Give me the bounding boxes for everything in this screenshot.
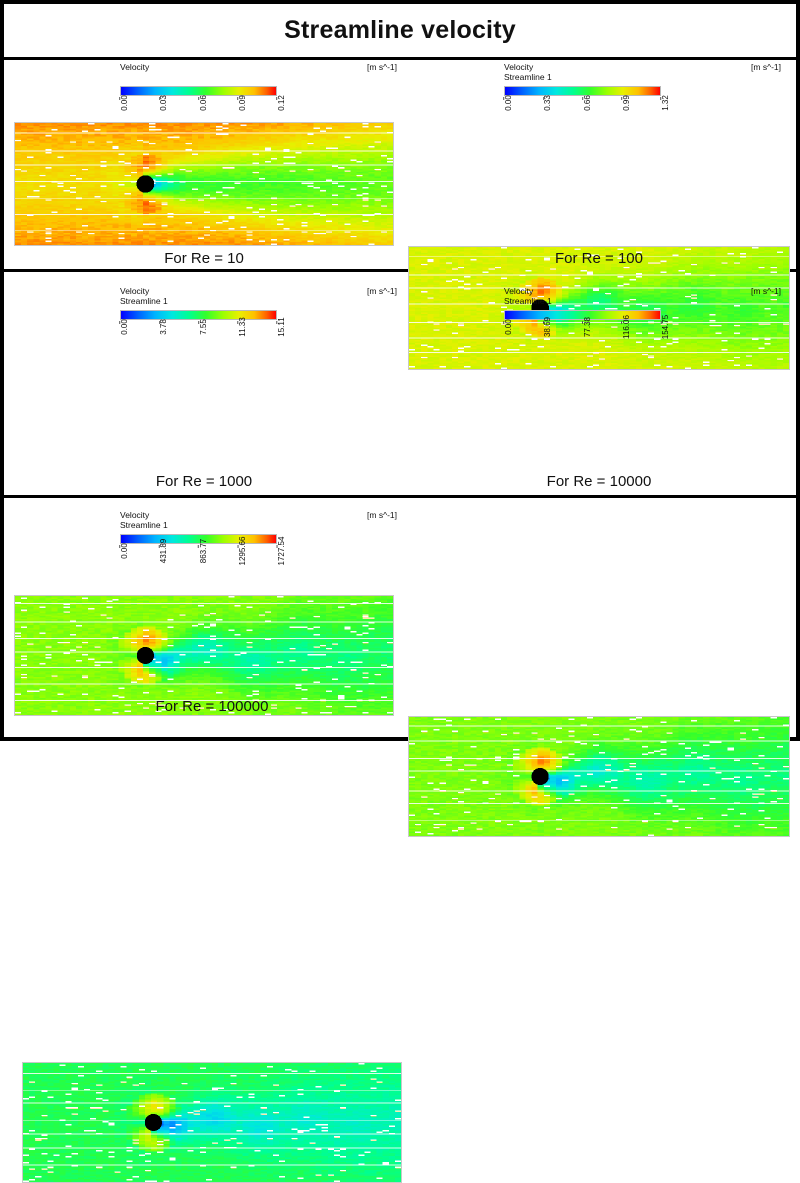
legend-tick: 0.99 (614, 97, 630, 112)
legend-title-line1: Velocity (504, 286, 533, 296)
legend-title-line1: Velocity (120, 286, 149, 296)
legend-tick-label: 0.00 (120, 95, 129, 111)
panel-caption-panel-re-10: For Re = 10 (14, 247, 394, 267)
legend-header: VelocityStreamline 1[m s^-1] (496, 286, 781, 310)
legend-tick: 11.33 (228, 321, 247, 336)
panel-caption-panel-re-10000: For Re = 10000 (408, 470, 790, 490)
legend-tick-label: 154.75 (661, 315, 670, 339)
flow-visualization-panel-re-100000 (22, 1062, 402, 1183)
legend-title-line1: Velocity (504, 62, 533, 72)
legend-tick: 0.03 (151, 97, 167, 112)
colorbar-ticks: 0.003.787.5511.3315.11 (120, 321, 277, 348)
legend-tick-label: 7.55 (199, 319, 208, 335)
legend-tick-label: 1727.54 (277, 537, 286, 566)
color-legend-panel-re-100000: VelocityStreamline 1[m s^-1]0.00431.8986… (112, 510, 397, 572)
legend-title: VelocityStreamline 1 (504, 62, 552, 82)
figure-root: Streamline velocity Velocity[m s^-1]0.00… (0, 0, 800, 741)
legend-tick-label: 1.32 (661, 95, 670, 111)
legend-tick: 1727.54 (263, 545, 292, 560)
legend-units: [m s^-1] (367, 62, 397, 72)
legend-title: Velocity (120, 62, 149, 72)
row-divider-3 (4, 495, 796, 498)
legend-block: VelocityStreamline 1[m s^-1]0.000.330.66… (496, 62, 781, 124)
legend-tick-label: 863.77 (199, 539, 208, 563)
row-divider-1 (4, 57, 796, 60)
legend-tick: 0.00 (112, 321, 128, 336)
colorbar-ticks: 0.000.330.660.991.32 (504, 97, 661, 124)
panels-container: Velocity[m s^-1]0.000.030.060.090.12For … (4, 4, 796, 615)
legend-tick: 3.78 (151, 321, 167, 336)
legend-title: VelocityStreamline 1 (120, 510, 168, 530)
legend-block: VelocityStreamline 1[m s^-1]0.00431.8986… (112, 510, 397, 572)
legend-tick-label: 38.69 (543, 317, 552, 337)
colorbar-ticks: 0.000.030.060.090.12 (120, 97, 277, 124)
legend-units: [m s^-1] (751, 62, 781, 72)
legend-tick: 863.77 (186, 545, 210, 560)
legend-tick-label: 77.38 (583, 317, 592, 337)
legend-tick-label: 0.00 (504, 95, 513, 111)
legend-block: Velocity[m s^-1]0.000.030.060.090.12 (112, 62, 397, 124)
legend-header: VelocityStreamline 1[m s^-1] (112, 510, 397, 534)
legend-title: VelocityStreamline 1 (504, 286, 552, 306)
colorbar-ticks: 0.00431.89863.771295.661727.54 (120, 545, 277, 572)
colorbar-ticks: 0.0038.6977.38116.06154.75 (504, 321, 661, 348)
caption-text: For Re = 1000 (14, 473, 394, 490)
legend-block: VelocityStreamline 1[m s^-1]0.003.787.55… (112, 286, 397, 348)
flow-visualization-panel-re-10000 (408, 716, 790, 837)
legend-tick-label: 15.11 (277, 317, 286, 336)
legend-tick-label: 0.66 (583, 95, 592, 111)
legend-tick-label: 1295.66 (238, 537, 247, 566)
legend-tick-label: 0.12 (277, 95, 286, 111)
legend-title-line1: Velocity (120, 62, 149, 72)
caption-text: For Re = 100000 (22, 698, 402, 715)
color-legend-panel-re-10: Velocity[m s^-1]0.000.030.060.090.12 (112, 62, 397, 124)
legend-tick: 0.06 (191, 97, 207, 112)
legend-tick: 154.75 (649, 321, 673, 336)
legend-tick: 0.09 (230, 97, 246, 112)
legend-tick: 431.89 (147, 545, 171, 560)
legend-tick-label: 11.33 (238, 317, 247, 336)
legend-tick: 0.33 (535, 97, 551, 112)
legend-tick: 0.00 (112, 545, 128, 560)
legend-header: VelocityStreamline 1[m s^-1] (112, 286, 397, 310)
legend-units: [m s^-1] (367, 510, 397, 520)
legend-header: Velocity[m s^-1] (112, 62, 397, 86)
legend-tick-label: 431.89 (159, 539, 168, 563)
color-legend-panel-re-100: VelocityStreamline 1[m s^-1]0.000.330.66… (496, 62, 781, 124)
legend-tick: 0.00 (112, 97, 128, 112)
legend-header: VelocityStreamline 1[m s^-1] (496, 62, 781, 86)
legend-tick-label: 0.00 (120, 543, 129, 559)
legend-title-line2: Streamline 1 (120, 520, 168, 530)
legend-tick-label: 0.06 (199, 95, 208, 111)
panel-caption-panel-re-1000: For Re = 1000 (14, 470, 394, 490)
legend-units: [m s^-1] (367, 286, 397, 296)
legend-tick: 1295.66 (223, 545, 252, 560)
legend-title: VelocityStreamline 1 (120, 286, 168, 306)
legend-tick-label: 3.78 (159, 319, 168, 335)
legend-tick-label: 0.99 (622, 95, 631, 111)
legend-tick-label: 0.03 (159, 95, 168, 111)
figure-title-bar: Streamline velocity (4, 4, 796, 57)
legend-tick: 1.32 (653, 97, 669, 112)
legend-title-line2: Streamline 1 (120, 296, 168, 306)
color-legend-panel-re-10000: VelocityStreamline 1[m s^-1]0.0038.6977.… (496, 286, 781, 348)
legend-title-line2: Streamline 1 (504, 296, 552, 306)
legend-tick: 0.00 (496, 97, 512, 112)
caption-text: For Re = 100 (408, 250, 790, 267)
legend-tick: 15.11 (267, 321, 286, 336)
panel-caption-panel-re-100: For Re = 100 (408, 247, 790, 267)
legend-tick-label: 116.06 (622, 315, 631, 339)
legend-tick: 7.55 (191, 321, 207, 336)
legend-tick-label: 0.33 (543, 95, 552, 111)
legend-units: [m s^-1] (751, 286, 781, 296)
legend-tick: 77.38 (572, 321, 592, 336)
legend-tick: 0.66 (575, 97, 591, 112)
legend-block: VelocityStreamline 1[m s^-1]0.0038.6977.… (496, 286, 781, 348)
flow-visualization-panel-re-10 (14, 122, 394, 246)
legend-tick-label: 0.09 (238, 95, 247, 111)
color-legend-panel-re-1000: VelocityStreamline 1[m s^-1]0.003.787.55… (112, 286, 397, 348)
legend-tick: 38.69 (533, 321, 553, 336)
legend-tick-label: 0.00 (504, 319, 513, 335)
page-title: Streamline velocity (284, 16, 516, 45)
legend-tick-label: 0.00 (120, 319, 129, 335)
legend-tick: 0.12 (269, 97, 285, 112)
panel-caption-panel-re-100000: For Re = 100000 (22, 695, 402, 715)
legend-tick: 0.00 (496, 321, 512, 336)
legend-tick: 116.06 (610, 321, 634, 336)
legend-title-line1: Velocity (120, 510, 149, 520)
caption-text: For Re = 10 (14, 250, 394, 267)
caption-text: For Re = 10000 (408, 473, 790, 490)
legend-title-line2: Streamline 1 (504, 72, 552, 82)
